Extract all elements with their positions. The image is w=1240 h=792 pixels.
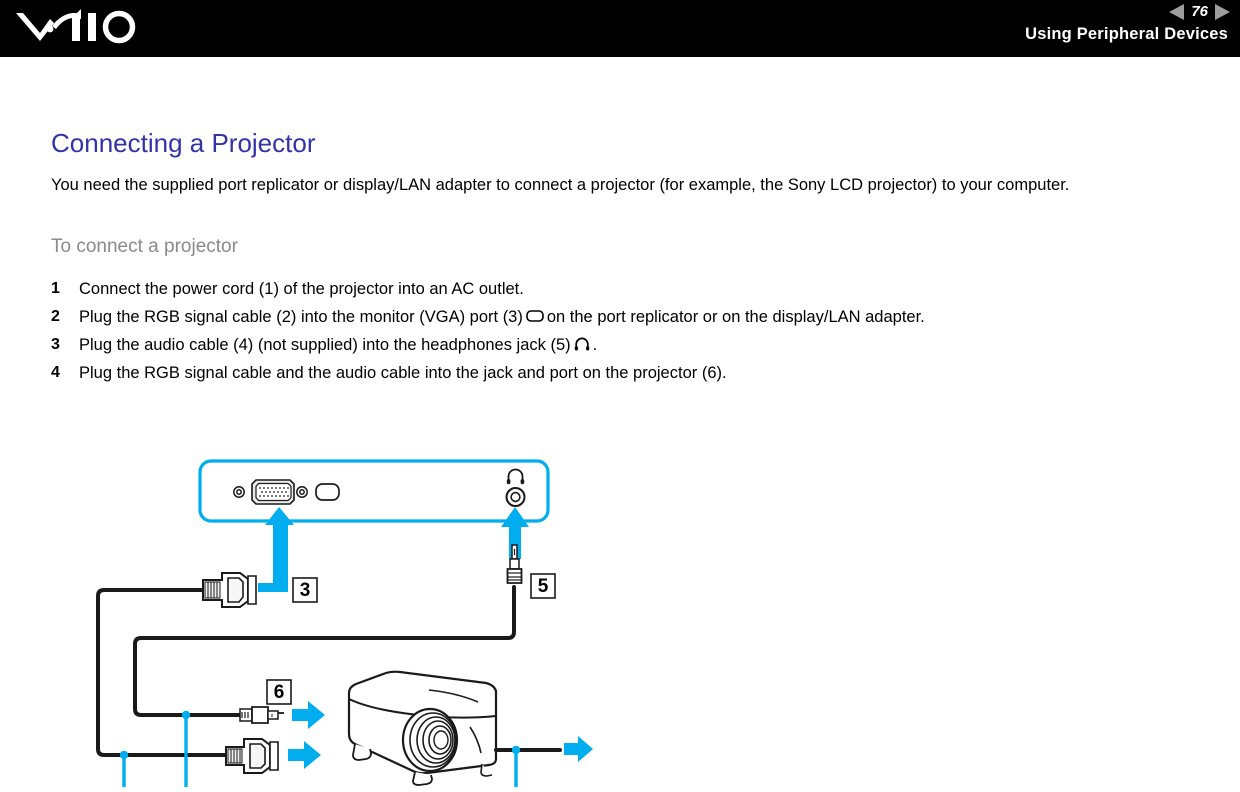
callout-2-leader bbox=[120, 751, 128, 787]
port-replicator-panel bbox=[200, 461, 548, 521]
page-header: 76 Using Peripheral Devices bbox=[0, 0, 1240, 57]
headphones-jack bbox=[507, 470, 525, 507]
step-number: 2 bbox=[51, 306, 79, 328]
step-number: 1 bbox=[51, 278, 79, 300]
projector-lens bbox=[403, 709, 457, 771]
intro-paragraph: You need the supplied port replicator or… bbox=[51, 173, 1191, 197]
arrow-audio-to-projector bbox=[292, 701, 325, 729]
step-text: Plug the audio cable (4) (not supplied) … bbox=[79, 334, 1211, 358]
page-title: Connecting a Projector bbox=[51, 128, 315, 159]
step-text: Connect the power cord (1) of the projec… bbox=[79, 278, 1211, 300]
callout-3-box: 3 bbox=[293, 578, 317, 602]
step-text-before: Plug the RGB signal cable (2) into the m… bbox=[79, 308, 523, 326]
step-item: 2 Plug the RGB signal cable (2) into the… bbox=[51, 306, 1211, 330]
step-item: 4 Plug the RGB signal cable and the audi… bbox=[51, 362, 1211, 384]
callout-4-leader bbox=[182, 711, 190, 787]
callout-6-box: 6 bbox=[267, 680, 291, 704]
step-text-after: on the port replicator or on the display… bbox=[547, 308, 925, 326]
callout-5-box: 5 bbox=[531, 574, 555, 598]
page-content: Connecting a Projector You need the supp… bbox=[0, 57, 1240, 786]
page-navigation[interactable]: 76 bbox=[1169, 1, 1230, 23]
triangle-left-icon[interactable] bbox=[1169, 4, 1184, 20]
audio-plug-projector bbox=[240, 707, 284, 723]
callout-1-leader bbox=[512, 746, 520, 787]
callout-6-label: 6 bbox=[274, 682, 285, 703]
step-item: 1 Connect the power cord (1) of the proj… bbox=[51, 278, 1211, 300]
callout-5-label: 5 bbox=[538, 576, 549, 597]
step-text: Plug the RGB signal cable (2) into the m… bbox=[79, 306, 1211, 330]
monitor-port-icon bbox=[525, 308, 545, 330]
step-text: Plug the RGB signal cable and the audio … bbox=[79, 362, 1211, 384]
projector-connection-diagram: .ln{fill:none;stroke:#1a1a1a;stroke-widt… bbox=[0, 387, 1240, 787]
headphones-jack-icon bbox=[573, 336, 591, 358]
vga-port bbox=[234, 480, 307, 504]
monitor-port-symbol bbox=[316, 484, 339, 500]
arrow-vga-to-projector bbox=[288, 741, 321, 769]
vga-connector-top bbox=[203, 573, 256, 607]
header-section-title: Using Peripheral Devices bbox=[1025, 25, 1228, 44]
arrow-power-cord bbox=[564, 736, 593, 762]
section-subheading: To connect a projector bbox=[51, 236, 238, 258]
step-number: 4 bbox=[51, 362, 79, 384]
callout-3-label: 3 bbox=[300, 580, 311, 601]
vaio-logo bbox=[14, 7, 164, 47]
triangle-right-icon[interactable] bbox=[1215, 4, 1230, 20]
step-text-before: Plug the audio cable (4) (not supplied) … bbox=[79, 336, 571, 354]
rgb-signal-cable bbox=[98, 590, 228, 755]
vga-connector-projector bbox=[226, 739, 278, 773]
step-item: 3 Plug the audio cable (4) (not supplied… bbox=[51, 334, 1211, 358]
page-number: 76 bbox=[1191, 4, 1208, 20]
projector-illustration bbox=[349, 672, 496, 785]
step-number: 3 bbox=[51, 334, 79, 356]
step-text-after: . bbox=[593, 336, 598, 354]
